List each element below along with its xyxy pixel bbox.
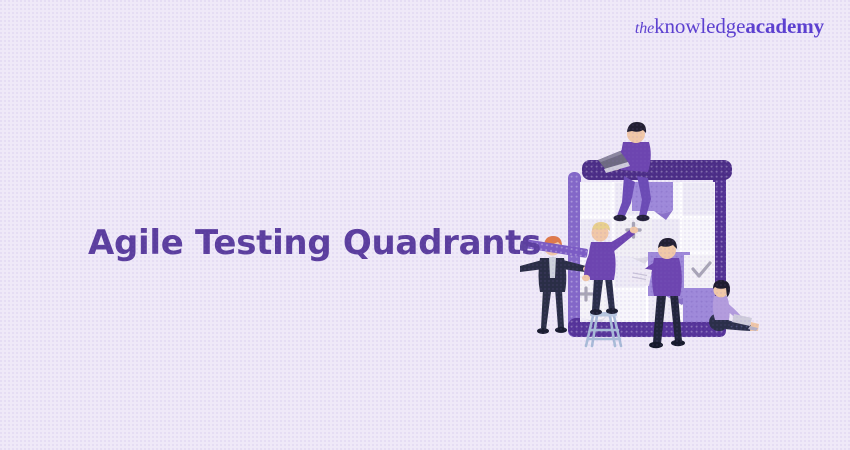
- illustration-svg: [520, 90, 840, 360]
- hero-illustration: [520, 90, 840, 360]
- logo-knowledge: knowledge: [654, 14, 745, 38]
- page-title: Agile Testing Quadrants: [88, 223, 541, 263]
- banner-root: theknowledgeacademy Agile Testing Quadra…: [0, 0, 850, 450]
- person-seated-with-laptop: [709, 280, 759, 331]
- logo-the: the: [635, 20, 654, 37]
- brand-logo[interactable]: theknowledgeacademy: [635, 14, 824, 39]
- logo-academy: academy: [745, 14, 824, 38]
